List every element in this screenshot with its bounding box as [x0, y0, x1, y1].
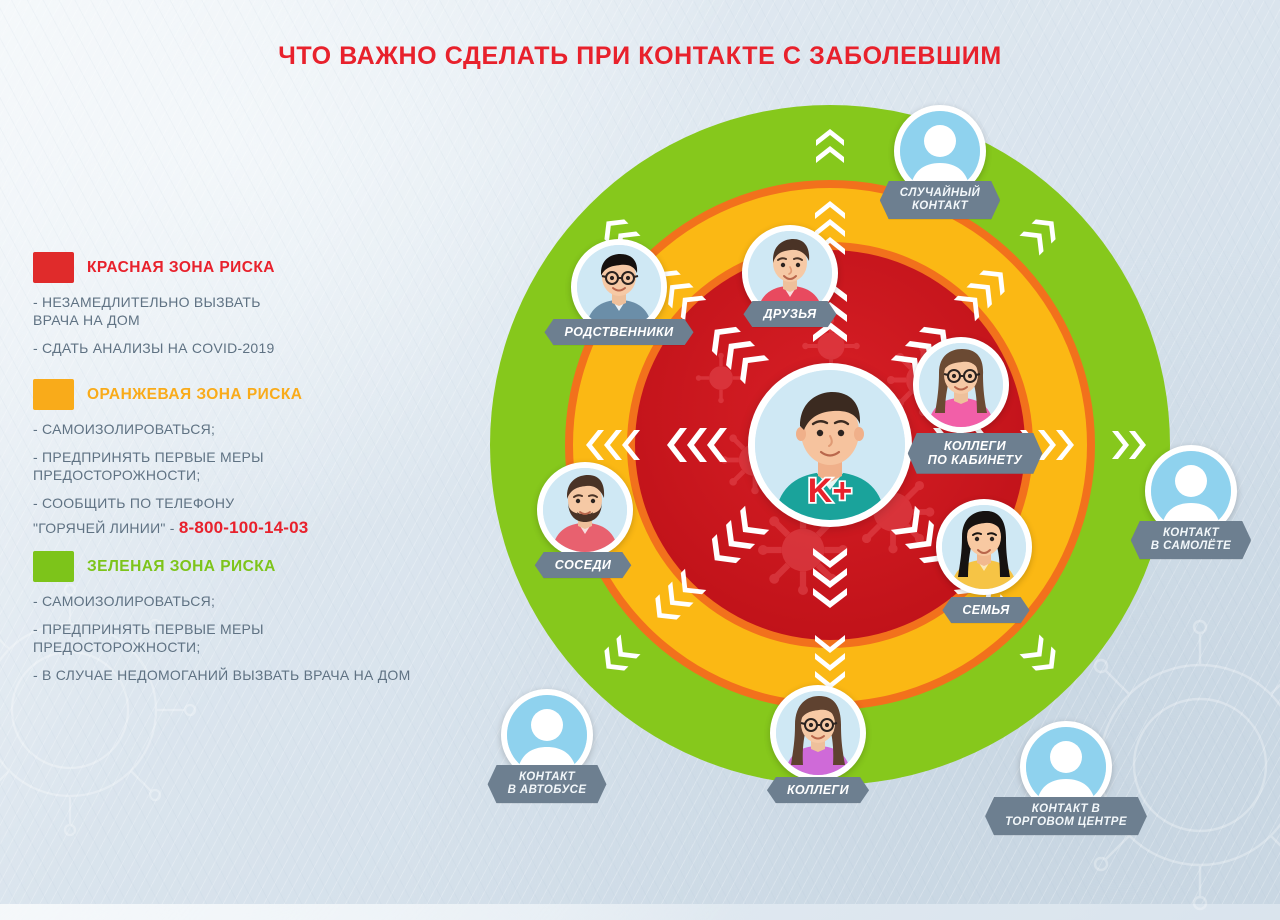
contact-label-colleagues: КОЛЛЕГИ: [767, 777, 869, 803]
legend-zone-red-title: КРАСНАЯ ЗОНА РИСКА: [87, 259, 275, 277]
legend-zone-red-header: КРАСНАЯ ЗОНА РИСКА: [33, 252, 463, 283]
avatar-office-colleagues[interactable]: [913, 337, 1009, 433]
legend-zone-green-title: ЗЕЛЕНАЯ ЗОНА РИСКА: [87, 558, 276, 576]
center-avatar-infected-person[interactable]: K+: [748, 363, 912, 527]
legend-zone-green-header: ЗЕЛЕНАЯ ЗОНА РИСКА: [33, 551, 463, 582]
legend-panel: КРАСНАЯ ЗОНА РИСКА - НЕЗАМЕДЛИТЕЛЬНО ВЫЗ…: [33, 252, 463, 693]
contact-label-family: СЕМЬЯ: [942, 597, 1029, 623]
legend-hotline-row: "ГОРЯЧЕЙ ЛИНИИ" - 8-800-100-14-03: [33, 518, 463, 538]
center-avatar-badge-label: K+: [808, 472, 852, 510]
legend-hotline-number: 8-800-100-14-03: [179, 518, 309, 537]
contact-label-mall-contact: КОНТАКТ В ТОРГОВОМ ЦЕНТРЕ: [985, 797, 1147, 835]
legend-hotline-prefix: "ГОРЯЧЕЙ ЛИНИИ" -: [33, 520, 179, 536]
avatar-neighbours[interactable]: [537, 462, 633, 558]
contact-label-plane-contact: КОНТАКТ В САМОЛЁТЕ: [1131, 521, 1251, 559]
legend-zone-orange-header: ОРАНЖЕВАЯ ЗОНА РИСКА: [33, 379, 463, 410]
avatar-colleagues[interactable]: [770, 685, 866, 781]
legend-zone-red-line-1: - НЕЗАМЕДЛИТЕЛЬНО ВЫЗВАТЬ ВРАЧА НА ДОМ: [33, 293, 463, 330]
legend-zone-orange-line-1: - САМОИЗОЛИРОВАТЬСЯ;: [33, 420, 463, 438]
legend-swatch-red: [33, 252, 74, 283]
legend-zone-orange-line-3: - СООБЩИТЬ ПО ТЕЛЕФОНУ: [33, 494, 463, 512]
legend-zone-green-line-2: - ПРЕДПРИНЯТЬ ПЕРВЫЕ МЕРЫ ПРЕДОСТОРОЖНОС…: [33, 620, 463, 657]
legend-zone-green-line-3: - В СЛУЧАЕ НЕДОМОГАНИЙ ВЫЗВАТЬ ВРАЧА НА …: [33, 666, 463, 684]
contact-label-office-colleagues: КОЛЛЕГИ ПО КАБИНЕТУ: [908, 433, 1043, 474]
legend-zone-red-line-2: - СДАТЬ АНАЛИЗЫ НА COVID-2019: [33, 339, 463, 357]
contact-label-bus-contact: КОНТАКТ В АВТОБУСЕ: [488, 765, 607, 803]
avatar-family[interactable]: [936, 499, 1032, 595]
risk-zone-diagram: K+ РОДСТВЕННИК: [455, 95, 1265, 905]
contact-label-neighbours: СОСЕДИ: [535, 552, 632, 578]
page-title: ЧТО ВАЖНО СДЕЛАТЬ ПРИ КОНТАКТЕ С ЗАБОЛЕВ…: [0, 42, 1280, 71]
legend-swatch-orange: [33, 379, 74, 410]
contact-label-relatives: РОДСТВЕННИКИ: [545, 319, 694, 345]
contact-label-random-contact: СЛУЧАЙНЫЙ КОНТАКТ: [880, 181, 1000, 219]
legend-swatch-green: [33, 551, 74, 582]
legend-zone-green-line-1: - САМОИЗОЛИРОВАТЬСЯ;: [33, 592, 463, 610]
legend-zone-orange-line-2: - ПРЕДПРИНЯТЬ ПЕРВЫЕ МЕРЫ ПРЕДОСТОРОЖНОС…: [33, 448, 463, 485]
legend-spacer-1: [33, 366, 463, 379]
contact-label-friends: ДРУЗЬЯ: [743, 301, 836, 327]
legend-zone-orange-title: ОРАНЖЕВАЯ ЗОНА РИСКА: [87, 386, 302, 404]
